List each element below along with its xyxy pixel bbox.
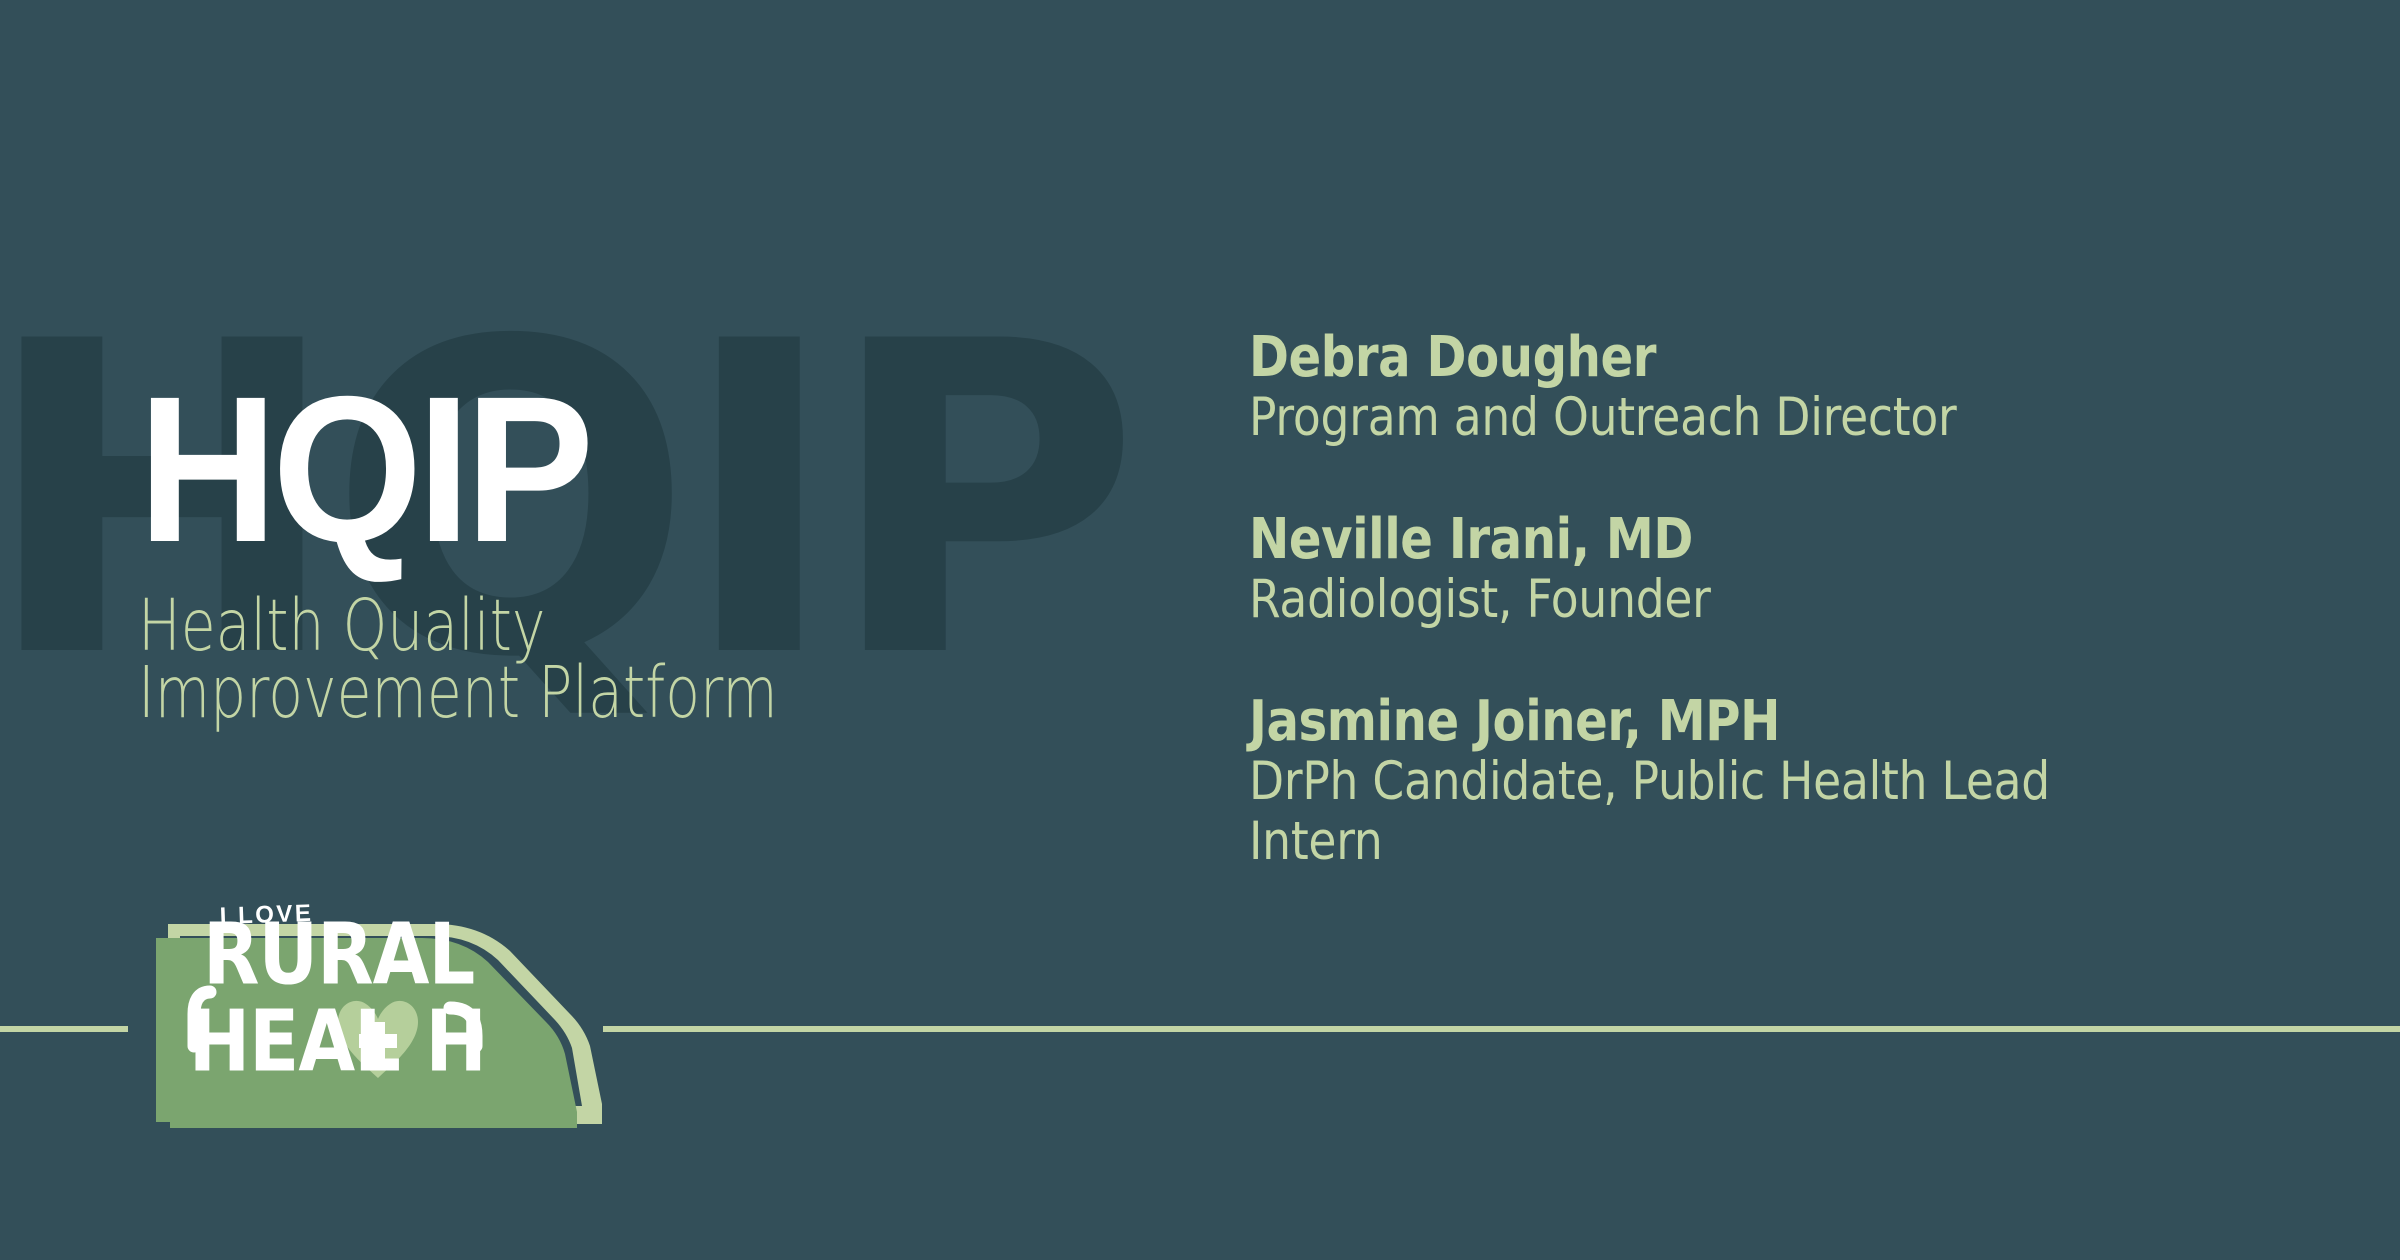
logo-text-rural: RURAL [203,904,474,1004]
list-item: Neville Irani, MD Radiologist, Founder [1249,510,2349,630]
list-item: Debra Dougher Program and Outreach Direc… [1249,328,2349,448]
presenter-name: Jasmine Joiner, MPH [1249,692,2195,752]
divider-left [0,1026,128,1032]
presenter-role: Radiologist, Founder [1249,570,2195,630]
brand-subtitle: Health Quality Improvement Platform [138,592,794,726]
divider-right [603,1026,2400,1032]
presenter-list: Debra Dougher Program and Outreach Direc… [1249,328,2349,872]
svg-text:HEAL: HEAL [189,991,400,1091]
presentation-slide: HQIP HQIP Health Quality Improvement Pla… [0,0,2400,1260]
logo-text-health: HEAL H [189,991,486,1091]
presenter-role: DrPh Candidate, Public Health Lead Inter… [1249,752,2195,872]
presenter-name: Debra Dougher [1249,328,2195,388]
svg-text:RURAL: RURAL [203,904,474,1004]
list-item: Jasmine Joiner, MPH DrPh Candidate, Publ… [1249,692,2349,872]
page-title: HQIP [138,372,901,568]
i-love-rural-health-logo-icon: I LOVE RURAL HEAL H [150,896,620,1156]
brand-block: HQIP Health Quality Improvement Platform [138,372,958,726]
presenter-role: Program and Outreach Director [1249,388,2195,448]
nebraska-state-icon: I LOVE RURAL HEAL H [150,896,620,1156]
presenter-name: Neville Irani, MD [1249,510,2195,570]
